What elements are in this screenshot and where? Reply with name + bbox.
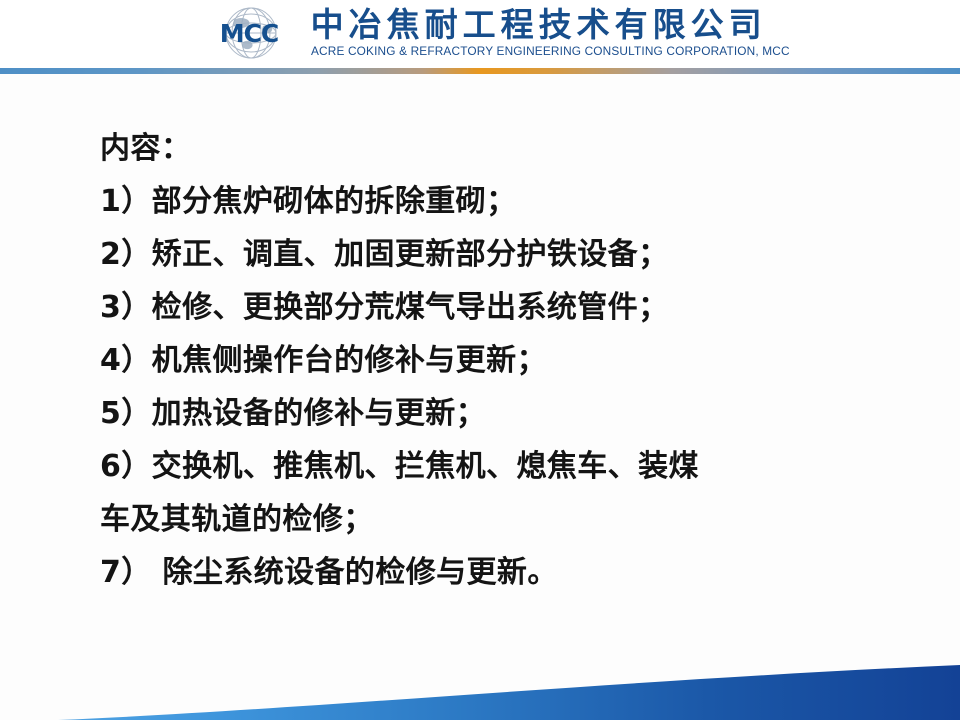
company-name-cn: 中冶焦耐工程技术有限公司 bbox=[311, 8, 776, 43]
content-item-5: 5）加热设备的修补与更新； bbox=[100, 387, 900, 440]
content-item-7: 7） 除尘系统设备的检修与更新。 bbox=[100, 546, 900, 599]
slide-header: MCC 中冶焦耐工程技术有限公司 ACRE COKING & REFRACTOR… bbox=[0, 0, 960, 68]
content-heading: 内容： bbox=[100, 122, 900, 175]
content-item-4: 4）机焦侧操作台的修补与更新； bbox=[100, 334, 900, 387]
content-item-6-continued: 车及其轨道的检修； bbox=[100, 493, 900, 546]
content-item-1: 1）部分焦炉砌体的拆除重砌； bbox=[100, 175, 900, 228]
content-item-2: 2）矫正、调直、加固更新部分护铁设备； bbox=[100, 228, 900, 281]
mcc-globe-logo-icon: MCC bbox=[199, 6, 303, 62]
company-name-block: 中冶焦耐工程技术有限公司 ACRE COKING & REFRACTORY EN… bbox=[311, 6, 776, 58]
company-logo: MCC 中冶焦耐工程技术有限公司 ACRE COKING & REFRACTOR… bbox=[199, 6, 776, 62]
company-name-en: ACRE COKING & REFRACTORY ENGINEERING CON… bbox=[311, 46, 790, 59]
content-item-3: 3）检修、更换部分荒煤气导出系统管件； bbox=[100, 281, 900, 334]
slide-content: 内容： 1）部分焦炉砌体的拆除重砌； 2）矫正、调直、加固更新部分护铁设备； 3… bbox=[100, 122, 900, 599]
content-item-6: 6）交换机、推焦机、拦焦机、熄焦车、装煤 bbox=[100, 440, 900, 493]
header-separator-bar bbox=[0, 68, 960, 74]
slide-canvas: MCC 中冶焦耐工程技术有限公司 ACRE COKING & REFRACTOR… bbox=[0, 0, 960, 720]
svg-text:MCC: MCC bbox=[219, 19, 278, 48]
bottom-swoosh-decoration bbox=[0, 610, 960, 720]
